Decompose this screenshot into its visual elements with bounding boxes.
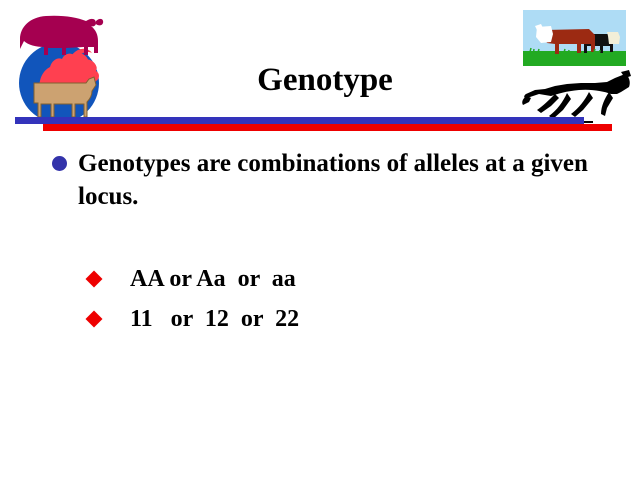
slide-canvas: Genotype — [0, 0, 640, 480]
divider-bar-blue — [15, 117, 584, 124]
page-title: Genotype — [160, 62, 490, 98]
sub-bullet-item: AA or Aa or aa — [88, 264, 508, 304]
sub-bullet-item: 11 or 12 or 22 — [88, 304, 508, 344]
diamond-bullet-icon — [86, 311, 103, 328]
sub-bullet-list: AA or Aa or aa 11 or 12 or 22 — [88, 264, 508, 344]
diamond-bullet-icon — [86, 271, 103, 288]
bullet-text: Genotypes are combinations of alleles at… — [78, 147, 592, 213]
divider-bar-red — [43, 124, 612, 131]
sub-bullet-text: AA or Aa or aa — [130, 264, 296, 294]
cattle-in-pasture-photo — [523, 10, 626, 66]
horse-icon — [522, 70, 631, 119]
bullet-dot-icon — [52, 156, 67, 171]
bullet-item: Genotypes are combinations of alleles at… — [52, 147, 592, 213]
sub-bullet-text: 11 or 12 or 22 — [130, 304, 299, 334]
livestock-logo — [10, 5, 110, 123]
